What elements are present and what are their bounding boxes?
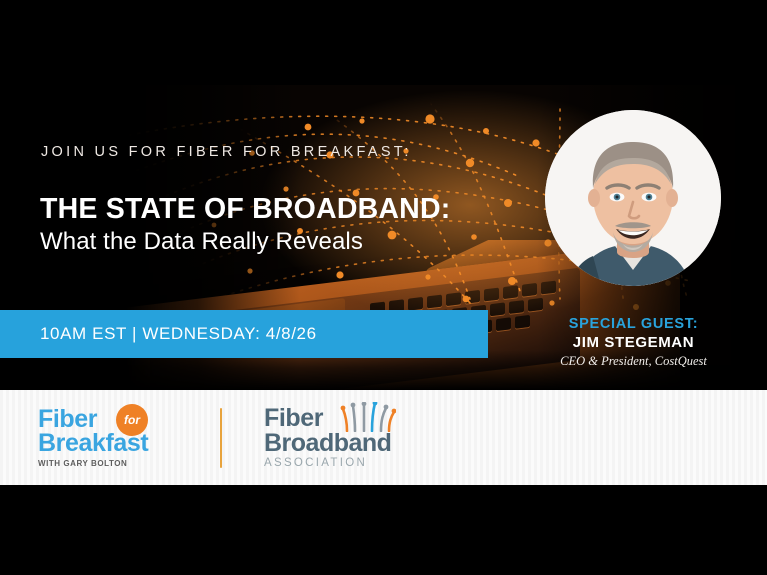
datetime-banner: 10AM EST | WEDNESDAY: 4/8/26: [0, 310, 488, 358]
special-guest-block: SPECIAL GUEST: JIM STEGEMAN CEO & Presid…: [500, 315, 767, 371]
fiber-for-breakfast-logo[interactable]: Fiber for Breakfast WITH GARY BOLTON: [38, 407, 168, 469]
top-black-bar: [0, 0, 767, 85]
special-guest-name: JIM STEGEMAN: [500, 333, 767, 353]
special-guest-role: CEO & President, CostQuest: [500, 353, 767, 371]
fba-line-1: Fiber: [264, 406, 391, 431]
fba-broadband-text: Broadband: [264, 431, 391, 456]
jim-stegeman-headshot: [545, 110, 721, 286]
datetime-text: 10AM EST | WEDNESDAY: 4/8/26: [0, 324, 317, 344]
fiber-strands-icon: [340, 402, 396, 432]
fiber-broadband-association-logo[interactable]: Fiber: [264, 406, 391, 469]
avatar: [545, 110, 721, 286]
logo-row: Fiber for Breakfast WITH GARY BOLTON Fib…: [38, 400, 391, 475]
fba-fiber-text: Fiber: [264, 406, 323, 431]
ffb-line-1: Fiber for: [38, 407, 168, 432]
ffb-for-badge: for: [116, 404, 148, 436]
ffb-breakfast-text: Breakfast: [38, 431, 168, 456]
kicker-text: JOIN US FOR FIBER FOR BREAKFAST:: [41, 144, 412, 160]
fba-association-text: ASSOCIATION: [264, 457, 391, 469]
ffb-tagline: WITH GARY BOLTON: [38, 459, 168, 468]
special-guest-label: SPECIAL GUEST:: [500, 315, 767, 333]
logo-band: Fiber for Breakfast WITH GARY BOLTON Fib…: [0, 390, 767, 485]
webinar-promo-graphic: JOIN US FOR FIBER FOR BREAKFAST: THE STA…: [0, 0, 767, 575]
logo-divider: [220, 408, 222, 468]
bottom-black-bar: [0, 485, 767, 575]
ffb-fiber-text: Fiber: [38, 407, 97, 432]
page-title: THE STATE OF BROADBAND:: [40, 193, 450, 226]
page-subtitle: What the Data Really Reveals: [40, 228, 363, 256]
